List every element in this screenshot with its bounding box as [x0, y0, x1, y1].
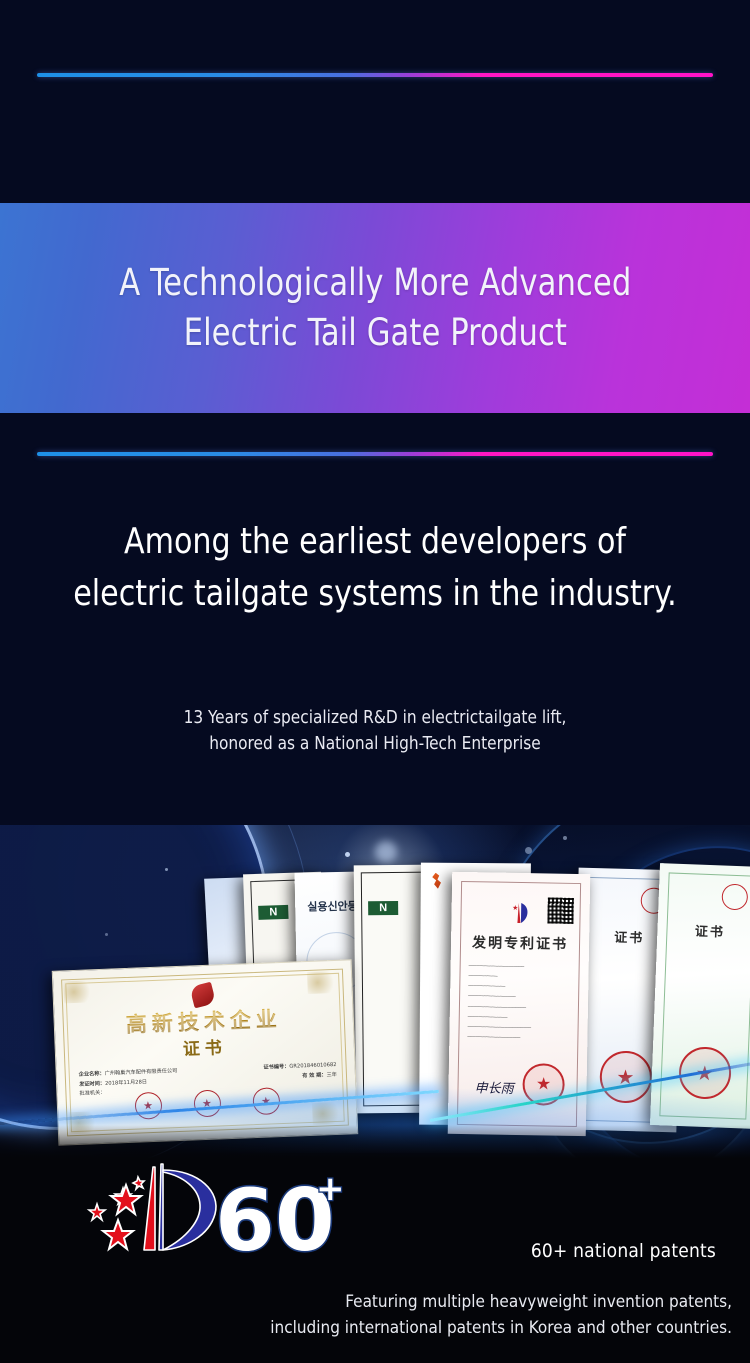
subheadline-line-2: honored as a National High-Tech Enterpri…: [19, 731, 732, 757]
field-issue-value: 2018年11月28日: [105, 1079, 147, 1087]
field-issue-label: 发证时间：: [79, 1080, 105, 1087]
certificate-high-tech-enterprise: 高新技术企业 证书 企业名称：广州翰巢汽车配件有限责任公司 证书编号：GR201…: [52, 959, 358, 1145]
p60-plus-logo: 60 +: [75, 1158, 345, 1263]
p60-plus-logo-icon: 60 +: [75, 1158, 345, 1263]
patent-certificate-title: 发明专利证书: [451, 932, 589, 954]
qr-code-icon: [547, 897, 573, 923]
gradient-divider-top: [37, 73, 713, 77]
field-cert-no-value: GR201846010682: [289, 1062, 336, 1070]
patents-description: Featuring multiple heavyweight invention…: [0, 1290, 732, 1342]
field-company-value: 广州翰巢汽车配件有限责任公司: [105, 1068, 178, 1077]
patents-count-caption: 60+ national patents: [531, 1240, 716, 1262]
runner-logo-icon: [431, 873, 443, 889]
field-cert-no-label: 证书编号：: [263, 1064, 289, 1071]
subheadline: 13 Years of specialized R&D in electrict…: [0, 705, 750, 757]
certificate-utility-green: 证书: [650, 863, 750, 1129]
headline-line-1: Among the earliest developers of: [26, 516, 724, 568]
nemko-logo-icon: N: [258, 905, 288, 920]
seal-icon: [134, 1092, 162, 1120]
patents-description-line-2: including international patents in Korea…: [0, 1316, 732, 1342]
seal-icon: [193, 1089, 221, 1117]
cnipa-logo-icon: [507, 901, 533, 925]
field-valid-value: 三年: [326, 1072, 337, 1078]
hero-title: A Technologically More Advanced Electric…: [119, 258, 631, 359]
corner-ornament-icon: [63, 980, 98, 1003]
certificates-photo: ration N 실용신안등록증 N E13 C€ 证书: [0, 825, 750, 1363]
certificate-green-title: 证书: [657, 919, 750, 942]
nemko-logo-icon: N: [368, 901, 398, 915]
hero-banner: A Technologically More Advanced Electric…: [0, 203, 750, 413]
seal-icon: [252, 1087, 280, 1115]
hero-title-line-1: A Technologically More Advanced: [119, 258, 631, 308]
hero-title-line-2: Electric Tail Gate Product: [119, 308, 631, 358]
official-seal-icon: [678, 1046, 732, 1100]
headline: Among the earliest developers of electri…: [0, 516, 750, 620]
patent-body-lines: ──────────────────────────────── ───────…: [467, 962, 570, 1045]
official-seal-icon: [599, 1050, 652, 1103]
corner-ornament-icon: [307, 971, 342, 994]
field-valid-label: 有 效 期：: [302, 1072, 327, 1079]
svg-text:+: +: [316, 1169, 345, 1209]
patent-signature: 申长雨: [474, 1077, 513, 1097]
headline-line-2: electric tailgate systems in the industr…: [26, 568, 724, 620]
certificate-invention-patent: 发明专利证书 ──────────────────────────────── …: [448, 872, 591, 1136]
subheadline-line-1: 13 Years of specialized R&D in electrict…: [19, 705, 732, 731]
page-root: A Technologically More Advanced Electric…: [0, 0, 750, 1363]
patents-description-line-1: Featuring multiple heavyweight invention…: [0, 1290, 732, 1316]
gradient-divider-middle: [37, 452, 713, 456]
field-company-label: 企业名称：: [79, 1071, 105, 1078]
national-seal-icon: [522, 1063, 565, 1106]
